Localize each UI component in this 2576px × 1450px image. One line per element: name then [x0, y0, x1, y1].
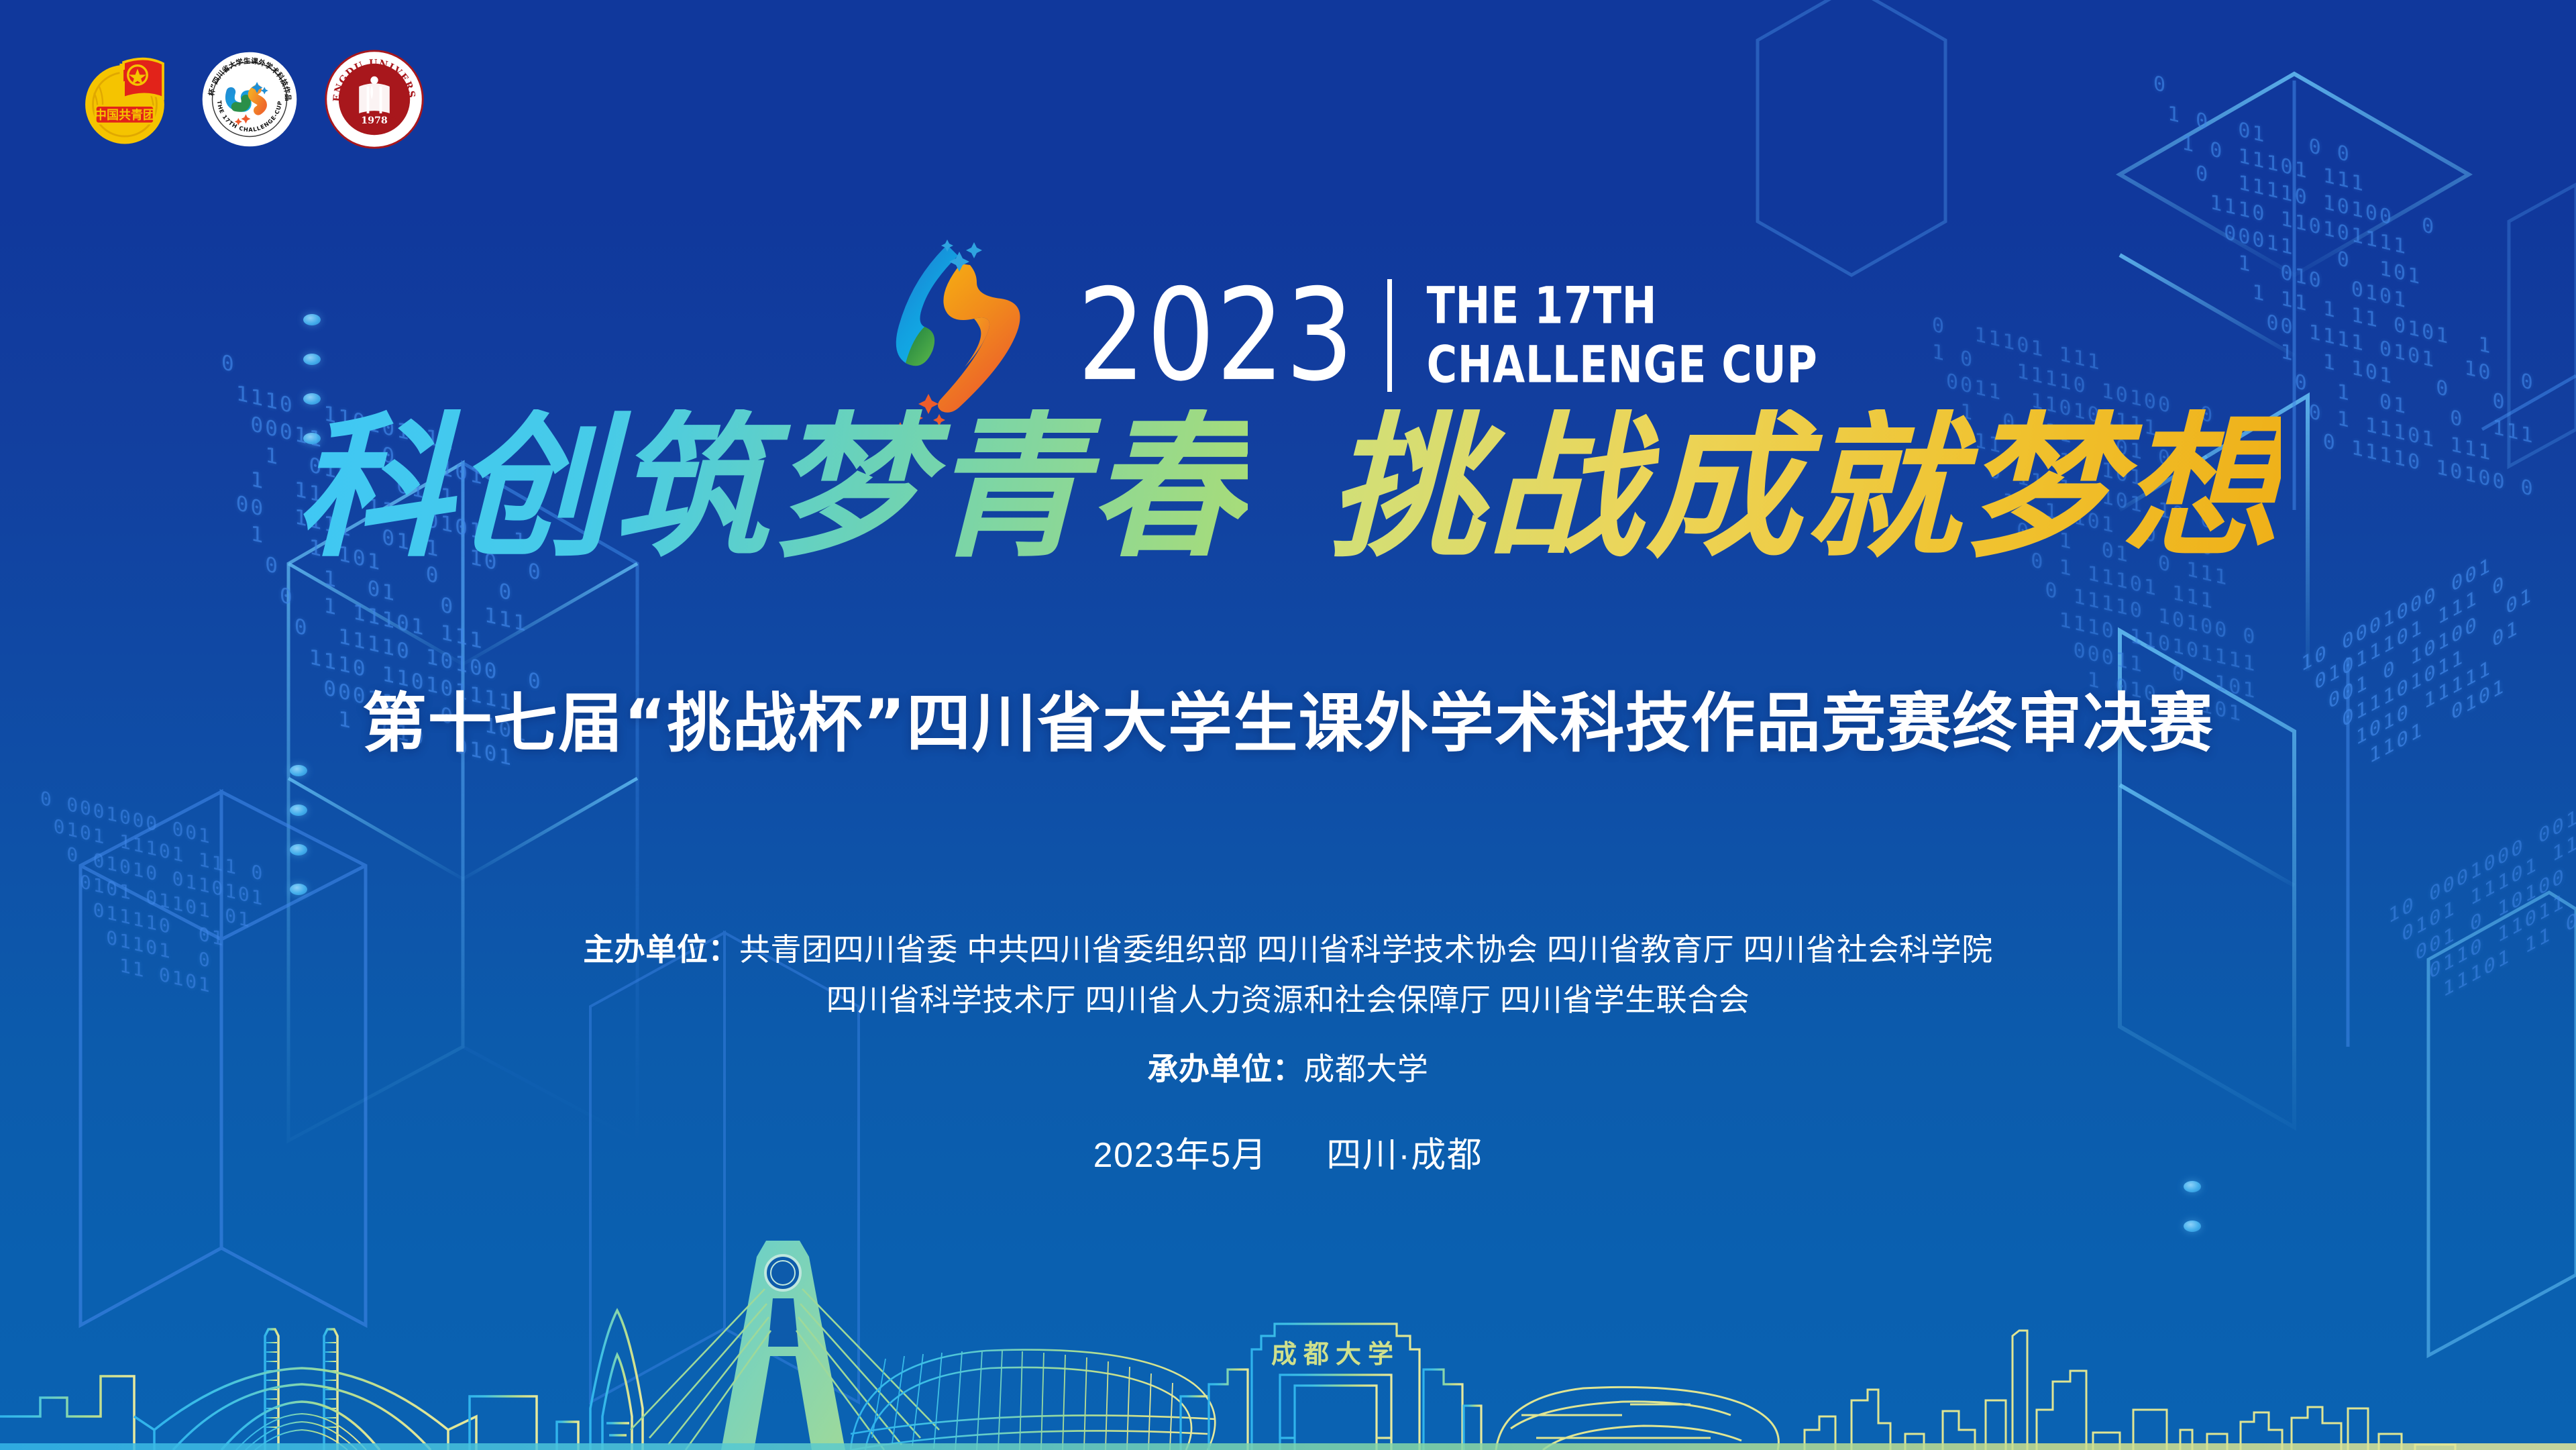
chengdu-university-seal: CHENGDU UNIVERSITY 成 都 大 学 1978 [323, 48, 425, 154]
skyline-baseline [0, 1443, 2576, 1450]
iso-building-mid-top [1758, 0, 1945, 275]
logo-divider [1387, 279, 1392, 392]
logo-english-line2: CHALLENGE CUP [1427, 338, 1818, 392]
organizer-label: 主办单位： [583, 932, 739, 967]
bridge-pylon [631, 1241, 939, 1450]
logo-english-line1: THE 17TH [1427, 279, 1818, 333]
stadium [851, 1350, 1216, 1450]
cyl-banner-text: 中国共青团 [95, 107, 155, 122]
poster-canvas: 0 1110 110101111 00011 0 101 1 010 0101 … [0, 0, 2576, 1450]
skyline-outlines [0, 1310, 643, 1450]
host-label: 承办单位： [1148, 1051, 1304, 1086]
organizers-text-1: 共青团四川省委 中共四川省委组织部 四川省科学技术协会 四川省教育厅 四川省社会… [739, 932, 1993, 967]
communist-youth-league-emblem: 中国共青团 [74, 48, 176, 154]
slogan-part1: 科创筑梦青春 [295, 409, 1248, 565]
organizers-line-1: 主办单位：共青团四川省委 中共四川省委组织部 四川省科学技术协会 四川省教育厅 … [0, 925, 2576, 975]
seal-year: 1978 [361, 115, 388, 126]
host-name: 成都大学 [1303, 1051, 1428, 1086]
logo-year: 2023 [1077, 272, 1355, 399]
emblem-row: 中国共青团 “挑战杯”四川省大学生课外学术科技 [74, 48, 425, 154]
skyline-right [1496, 1331, 2455, 1450]
slogan: 科创筑梦青春挑战成就梦想 [0, 409, 2576, 565]
slogan-part2: 挑战成就梦想 [1328, 409, 2281, 565]
dot-chain-left-2 [290, 765, 307, 923]
page-title: 第十七届“挑战杯”四川省大学生课外学术科技作品竞赛终审决赛 [0, 671, 2576, 764]
host-line: 承办单位：成都大学 [0, 1045, 2576, 1089]
challenge-cup-badge: “挑战杯”四川省大学生课外学术科技作品竞赛 THE 17TH CHALLENGE… [200, 50, 299, 152]
gate-inscription: 成都大学 [1271, 1339, 1400, 1369]
organizers-line-2: 四川省科学技术厅 四川省人力资源和社会保障厅 四川省学生联合会 [0, 975, 2576, 1025]
city-skyline: 成都大学 [0, 1135, 2576, 1450]
